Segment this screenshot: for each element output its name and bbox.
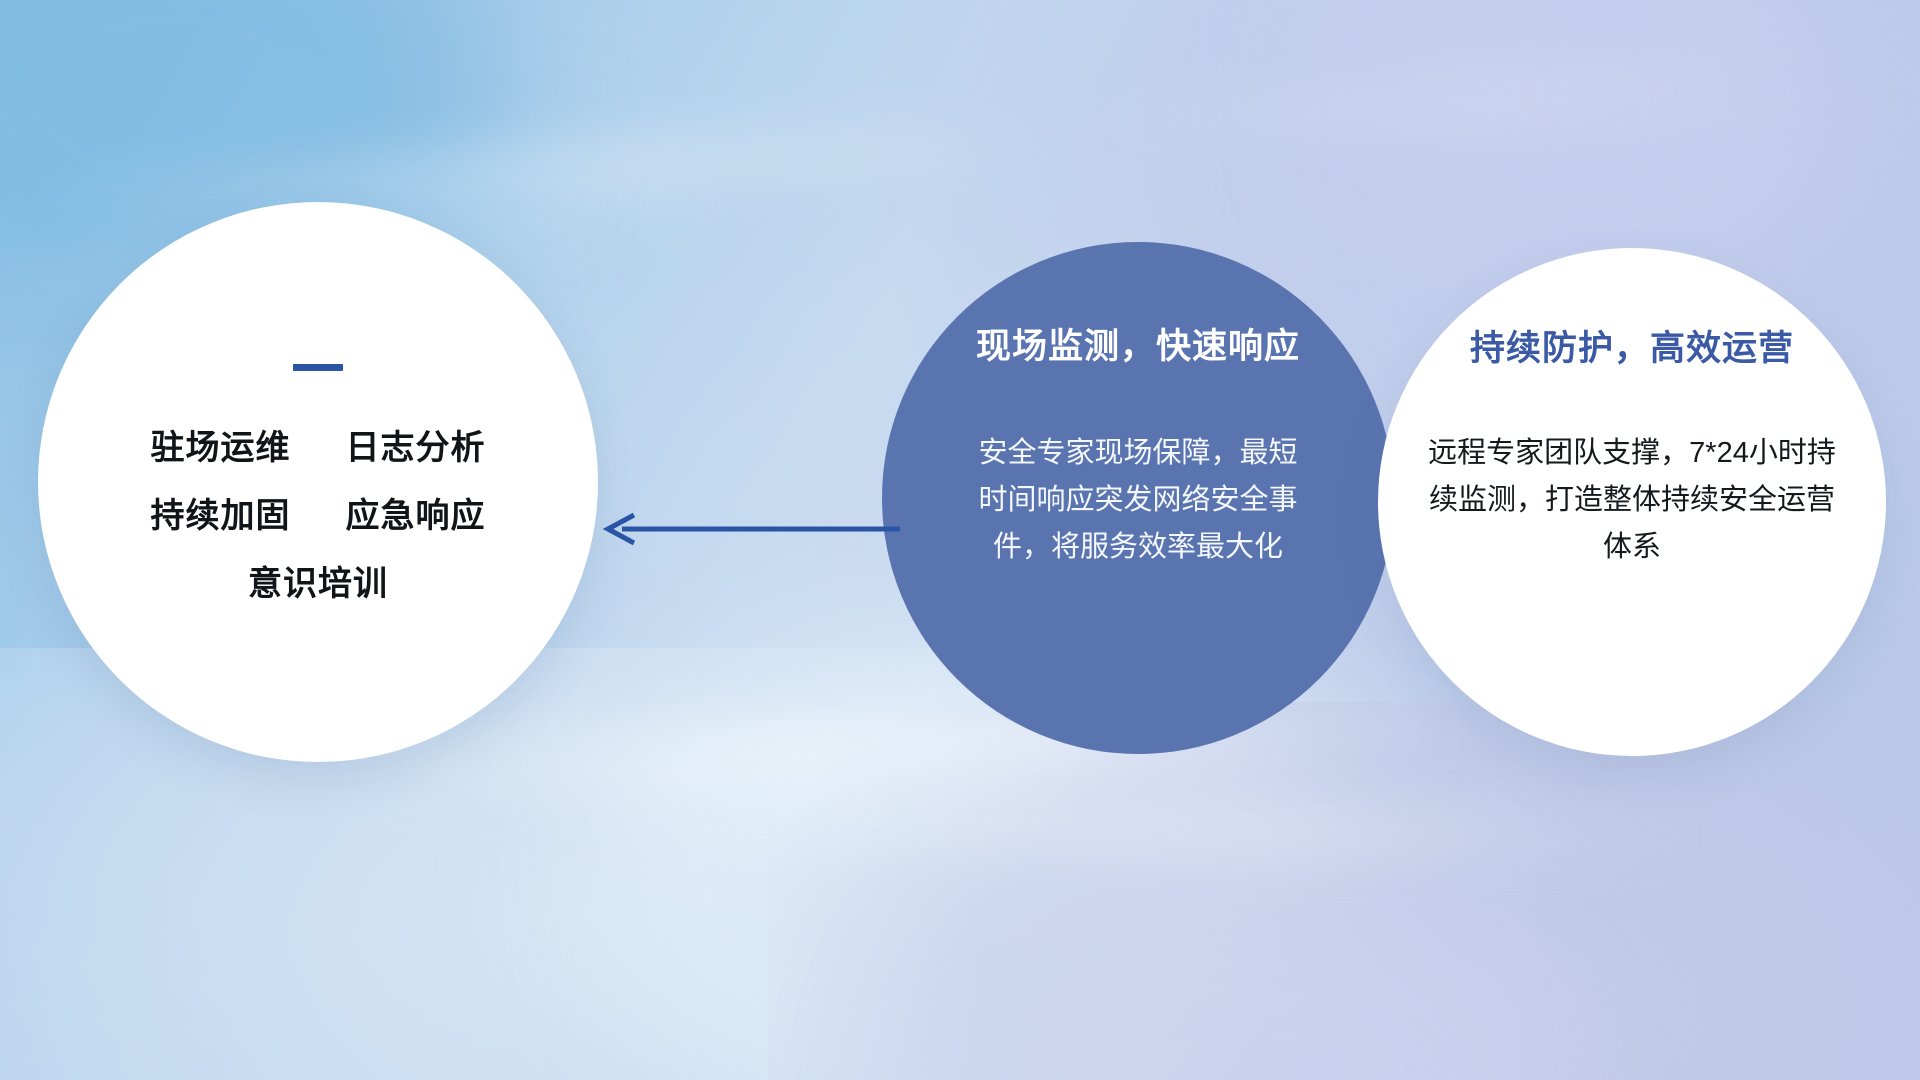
- onsite-monitoring-body: 安全专家现场保障，最短时间响应突发网络安全事件，将服务效率最大化: [973, 430, 1303, 571]
- capability-label-awareness-training: 意识培训: [248, 565, 388, 603]
- capability-label-onsite-ops: 驻场运维: [151, 429, 291, 467]
- onsite-monitoring-title: 现场监测，快速响应: [976, 326, 1300, 368]
- capability-row-1: 驻场运维 日志分析: [151, 431, 486, 465]
- capability-label-emergency-response: 应急响应: [345, 497, 485, 535]
- slide-canvas: 驻场运维 日志分析 持续加固 应急响应 意识培训 现场监测，快速响应 安全专家现…: [0, 0, 1920, 1080]
- capability-row-3: 意识培训: [248, 567, 388, 601]
- continuous-protection-body: 远程专家团队支撑，7*24小时持续监测，打造整体持续安全运营体系: [1425, 430, 1840, 571]
- capabilities-circle[interactable]: 驻场运维 日志分析 持续加固 应急响应 意识培训: [38, 202, 598, 762]
- capability-label-log-analysis: 日志分析: [345, 429, 485, 467]
- arrow-left-icon: [600, 512, 900, 546]
- accent-dash-divider: [293, 364, 343, 371]
- capability-row-2: 持续加固 应急响应: [151, 499, 486, 533]
- continuous-protection-circle[interactable]: 持续防护，高效运营 远程专家团队支撑，7*24小时持续监测，打造整体持续安全运营…: [1378, 248, 1886, 756]
- capability-label-continuous-hardening: 持续加固: [151, 497, 291, 535]
- onsite-monitoring-circle[interactable]: 现场监测，快速响应 安全专家现场保障，最短时间响应突发网络安全事件，将服务效率最…: [882, 242, 1394, 754]
- continuous-protection-title: 持续防护，高效运营: [1470, 328, 1794, 370]
